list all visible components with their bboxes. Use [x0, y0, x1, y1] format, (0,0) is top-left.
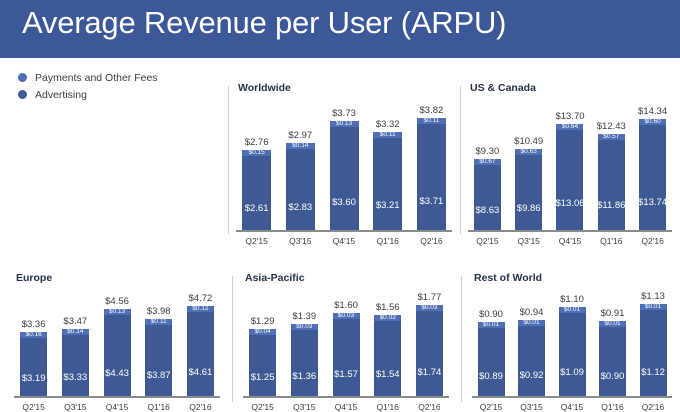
x-axis-ticks: Q2'15Q3'15Q4'15Q1'16Q2'16 [14, 402, 220, 412]
bar-segment-advertising-label: $13.06 [555, 198, 584, 209]
bar-segment-advertising[interactable]: $2.83 [286, 149, 315, 231]
bar-slot[interactable]: $0.04$1.29$1.25 [243, 271, 282, 397]
bar-group: $0.15$2.76$2.61$0.14$2.97$2.83$0.13$3.73… [236, 81, 452, 231]
bar-slot[interactable]: $0.13$3.73$3.60 [323, 81, 364, 231]
bar-total-label: $3.98 [147, 306, 171, 317]
bar-segment-advertising-label: $3.87 [147, 370, 171, 381]
chart-panel-row: Rest of World$0.01$0.90$0.89$0.01$0.94$0… [472, 272, 672, 410]
bar-total-label: $1.10 [560, 294, 584, 305]
bar-segment-advertising-label: $3.71 [420, 196, 444, 207]
bar-segment-advertising[interactable]: $3.71 [417, 124, 446, 231]
bar-total-label: $1.60 [334, 300, 358, 311]
panel-divider [461, 276, 462, 402]
circle-icon [18, 73, 27, 82]
stacked-bar[interactable]: $0.01$0.91$0.90 [599, 321, 626, 397]
page-title: Average Revenue per User (ARPU) [22, 5, 506, 41]
bar-total-label: $2.76 [245, 137, 269, 148]
bar-slot[interactable]: $0.01$1.10$1.09 [553, 271, 591, 397]
bar-segment-advertising[interactable]: $1.12 [640, 310, 667, 397]
bar-segment-advertising[interactable]: $9.86 [515, 155, 542, 231]
bar-slot[interactable]: $0.11$3.32$3.21 [367, 81, 408, 231]
bar-total-label: $12.43 [597, 121, 626, 132]
bar-total-label: $13.70 [555, 111, 584, 122]
x-axis-tick-label: Q4'15 [553, 402, 591, 412]
stacked-bar[interactable]: $0.11$3.82$3.71 [417, 118, 446, 231]
stacked-bar[interactable]: $0.13$4.56$4.43 [104, 309, 131, 397]
stacked-bar[interactable]: $0.60$14.34$13.74 [639, 119, 666, 231]
stacked-bar[interactable]: $0.01$0.94$0.92 [518, 320, 545, 397]
bar-segment-advertising[interactable]: $0.90 [599, 327, 626, 397]
bar-segment-advertising[interactable]: $3.33 [62, 335, 89, 397]
bar-group: $0.01$0.90$0.89$0.01$0.94$0.92$0.01$1.10… [472, 271, 672, 397]
plot-area: $0.15$2.76$2.61$0.14$2.97$2.83$0.13$3.73… [236, 94, 452, 244]
bar-segment-advertising-label: $13.74 [638, 197, 667, 208]
stacked-bar[interactable]: $0.01$1.10$1.09 [559, 307, 586, 397]
stacked-bar[interactable]: $0.03$1.60$1.57 [333, 313, 360, 397]
bar-segment-advertising[interactable]: $11.86 [598, 140, 625, 231]
bar-segment-advertising-label: $3.19 [22, 373, 46, 384]
bar-segment-advertising[interactable]: $1.54 [374, 321, 401, 397]
bar-slot[interactable]: $0.11$3.98$3.87 [139, 271, 178, 397]
stacked-bar[interactable]: $0.14$2.97$2.83 [286, 143, 315, 231]
bar-group: $0.67$9.30$8.63$0.63$10.49$9.86$0.64$13.… [468, 81, 672, 231]
panel-divider [232, 276, 233, 402]
bar-slot[interactable]: $0.15$2.76$2.61 [236, 81, 277, 231]
bar-segment-advertising-label: $2.83 [288, 202, 312, 213]
bar-slot[interactable]: $0.02$1.56$1.54 [368, 271, 407, 397]
x-axis-ticks: Q2'15Q3'15Q4'15Q1'16Q2'16 [236, 236, 452, 246]
bar-slot[interactable]: $0.13$4.56$4.43 [97, 271, 136, 397]
bar-slot[interactable]: $0.03$1.39$1.36 [285, 271, 324, 397]
bar-segment-advertising-label: $1.74 [418, 367, 442, 378]
x-axis-tick-label: Q1'16 [367, 236, 408, 246]
bar-segment-advertising-label: $4.43 [105, 368, 129, 379]
bar-total-label: $0.91 [601, 308, 625, 319]
bar-group: $0.16$3.36$3.19$0.14$3.47$3.33$0.13$4.56… [14, 271, 220, 397]
x-axis-ticks: Q2'15Q3'15Q4'15Q1'16Q2'16 [243, 402, 449, 412]
bar-segment-advertising-label: $1.12 [641, 367, 665, 378]
x-axis-line [243, 396, 449, 398]
bar-total-label: $3.73 [332, 108, 356, 119]
chart-panel-asia: Asia-Pacific$0.04$1.29$1.25$0.03$1.39$1.… [243, 272, 449, 410]
bar-segment-advertising[interactable]: $4.61 [187, 312, 214, 397]
bar-segment-advertising-label: $9.86 [517, 203, 541, 214]
x-axis-tick-label: Q2'15 [243, 402, 282, 412]
stacked-bar[interactable]: $0.02$1.56$1.54 [374, 315, 401, 397]
bar-segment-advertising-label: $0.90 [601, 371, 625, 382]
bar-slot[interactable]: $0.63$10.49$9.86 [509, 81, 548, 231]
x-axis-tick-label: Q2'16 [410, 402, 449, 412]
bar-segment-advertising-label: $0.89 [479, 371, 503, 382]
bar-segment-advertising[interactable]: $1.09 [559, 313, 586, 397]
plot-area: $0.16$3.36$3.19$0.14$3.47$3.33$0.13$4.56… [14, 284, 220, 410]
x-axis-tick-label: Q3'15 [56, 402, 95, 412]
stacked-bar[interactable]: $0.01$0.90$0.89 [478, 322, 505, 397]
plot-area: $0.04$1.29$1.25$0.03$1.39$1.36$0.03$1.60… [243, 284, 449, 410]
x-axis-tick-label: Q2'15 [468, 236, 507, 246]
stacked-bar[interactable]: $0.64$13.70$13.06 [556, 124, 583, 231]
bar-segment-advertising[interactable]: $1.57 [333, 319, 360, 397]
x-axis-tick-label: Q4'15 [551, 236, 590, 246]
bar-segment-advertising[interactable]: $13.74 [639, 125, 666, 231]
bar-segment-advertising-label: $1.25 [251, 372, 275, 383]
bar-segment-advertising[interactable]: $8.63 [474, 165, 501, 231]
bar-segment-advertising[interactable]: $0.89 [478, 328, 505, 397]
x-axis-tick-label: Q1'16 [139, 402, 178, 412]
bar-slot[interactable]: $0.03$1.60$1.57 [326, 271, 365, 397]
legend-item[interactable]: Payments and Other Fees [18, 70, 158, 85]
x-axis-tick-label: Q2'16 [181, 402, 220, 412]
bar-slot[interactable]: $0.01$0.91$0.90 [594, 271, 632, 397]
bar-segment-advertising[interactable]: $2.61 [242, 156, 271, 231]
x-axis-tick-label: Q2'16 [634, 402, 672, 412]
x-axis-line [236, 230, 452, 232]
stacked-bar[interactable]: $0.12$4.72$4.61 [187, 306, 214, 397]
legend-item[interactable]: Advertising [18, 87, 158, 102]
bar-segment-advertising[interactable]: $3.87 [145, 325, 172, 397]
x-axis-tick-label: Q1'16 [594, 402, 632, 412]
plot-area: $0.01$0.90$0.89$0.01$0.94$0.92$0.01$1.10… [472, 284, 672, 410]
bar-total-label: $4.56 [105, 296, 129, 307]
stacked-bar[interactable]: $0.11$3.32$3.21 [373, 132, 402, 231]
x-axis-line [472, 396, 672, 398]
x-axis-tick-label: Q3'15 [285, 402, 324, 412]
bar-total-label: $0.94 [520, 307, 544, 318]
bar-segment-advertising[interactable]: $1.25 [249, 335, 276, 397]
bar-total-label: $1.13 [641, 291, 665, 302]
bar-total-label: $1.29 [251, 316, 275, 327]
x-axis-tick-label: Q2'15 [236, 236, 277, 246]
bar-total-label: $10.49 [514, 136, 543, 147]
bar-slot[interactable]: $0.57$12.43$11.86 [592, 81, 631, 231]
bar-total-label: $1.56 [376, 302, 400, 313]
chart-legend: Payments and Other FeesAdvertising [18, 70, 158, 104]
bar-total-label: $0.90 [479, 309, 503, 320]
x-axis-tick-label: Q4'15 [97, 402, 136, 412]
panel-divider [460, 86, 461, 234]
bar-segment-advertising-label: $1.36 [292, 371, 316, 382]
bar-slot[interactable]: $0.12$4.72$4.61 [181, 271, 220, 397]
bar-slot[interactable]: $0.01$0.90$0.89 [472, 271, 510, 397]
legend-item-label: Advertising [35, 89, 87, 101]
stacked-bar[interactable]: $0.67$9.30$8.63 [474, 159, 501, 231]
chart-panel-us-canada: US & Canada$0.67$9.30$8.63$0.63$10.49$9.… [468, 82, 672, 244]
x-axis-tick-label: Q2'16 [633, 236, 672, 246]
bar-total-label: $9.30 [476, 146, 500, 157]
bar-total-label: $14.34 [638, 106, 667, 117]
x-axis-tick-label: Q1'16 [368, 402, 407, 412]
stacked-bar[interactable]: $0.11$3.98$3.87 [145, 319, 172, 397]
x-axis-line [14, 396, 220, 398]
plot-area: $0.67$9.30$8.63$0.63$10.49$9.86$0.64$13.… [468, 94, 672, 244]
bar-segment-advertising-label: $0.92 [520, 370, 544, 381]
bar-slot[interactable]: $0.60$14.34$13.74 [633, 81, 672, 231]
panel-divider [228, 86, 229, 234]
bar-segment-advertising-label: $4.61 [189, 367, 213, 378]
stacked-bar[interactable]: $0.03$1.39$1.36 [291, 324, 318, 397]
bar-total-label: $3.36 [22, 319, 46, 330]
x-axis-ticks: Q2'15Q3'15Q4'15Q1'16Q2'16 [468, 236, 672, 246]
stacked-bar[interactable]: $0.57$12.43$11.86 [598, 134, 625, 231]
bar-segment-advertising[interactable]: $4.43 [104, 315, 131, 397]
legend-item-label: Payments and Other Fees [35, 72, 158, 84]
stacked-bar[interactable]: $0.01$1.13$1.12 [640, 304, 667, 397]
bar-slot[interactable]: $0.14$2.97$2.83 [280, 81, 321, 231]
bar-segment-advertising-label: $3.60 [332, 197, 356, 208]
bar-segment-advertising[interactable]: $1.36 [291, 330, 318, 397]
x-axis-tick-label: Q3'15 [513, 402, 551, 412]
stacked-bar[interactable]: $0.63$10.49$9.86 [515, 149, 542, 231]
bar-segment-advertising[interactable]: $1.74 [416, 311, 443, 397]
bar-segment-advertising-label: $1.54 [376, 369, 400, 380]
stacked-bar[interactable]: $0.13$3.73$3.60 [330, 121, 359, 231]
chart-panel-europe: Europe$0.16$3.36$3.19$0.14$3.47$3.33$0.1… [14, 272, 220, 410]
x-axis-tick-label: Q3'15 [280, 236, 321, 246]
bar-segment-advertising[interactable]: $3.60 [330, 127, 359, 231]
bar-total-label: $3.47 [63, 316, 87, 327]
x-axis-tick-label: Q1'16 [592, 236, 631, 246]
circle-icon [18, 90, 27, 99]
x-axis-line [468, 230, 672, 232]
bar-segment-advertising[interactable]: $0.92 [518, 326, 545, 397]
bar-segment-advertising-label: $3.21 [376, 200, 400, 211]
x-axis-tick-label: Q2'15 [14, 402, 53, 412]
bar-segment-advertising-label: $11.86 [597, 200, 625, 211]
bar-segment-advertising-label: $3.33 [63, 372, 87, 383]
bar-slot[interactable]: $0.67$9.30$8.63 [468, 81, 507, 231]
bar-total-label: $2.97 [288, 130, 312, 141]
x-axis-ticks: Q2'15Q3'15Q4'15Q1'16Q2'16 [472, 402, 672, 412]
bar-segment-advertising[interactable]: $3.21 [373, 138, 402, 231]
bar-slot[interactable]: $0.01$1.13$1.12 [634, 271, 672, 397]
bar-segment-advertising[interactable]: $13.06 [556, 130, 583, 231]
bar-total-label: $1.39 [292, 311, 316, 322]
x-axis-tick-label: Q2'16 [411, 236, 452, 246]
bar-total-label: $3.32 [376, 119, 400, 130]
bar-segment-advertising-label: $1.09 [560, 367, 584, 378]
bar-segment-advertising-label: $1.57 [334, 369, 358, 380]
bar-slot[interactable]: $0.64$13.70$13.06 [551, 81, 590, 231]
bar-slot[interactable]: $0.01$0.94$0.92 [513, 271, 551, 397]
bar-slot[interactable]: $0.14$3.47$3.33 [56, 271, 95, 397]
x-axis-tick-label: Q4'15 [326, 402, 365, 412]
bar-slot[interactable]: $0.03$1.77$1.74 [410, 271, 449, 397]
bar-total-label: $1.77 [418, 292, 442, 303]
bar-segment-advertising[interactable]: $3.19 [20, 338, 47, 397]
page-header: Average Revenue per User (ARPU) [0, 0, 680, 58]
stacked-bar[interactable]: $0.03$1.77$1.74 [416, 305, 443, 397]
x-axis-tick-label: Q3'15 [509, 236, 548, 246]
bar-segment-advertising-label: $2.61 [245, 203, 269, 214]
stacked-bar[interactable]: $0.15$2.76$2.61 [242, 150, 271, 231]
x-axis-tick-label: Q4'15 [323, 236, 364, 246]
stacked-bar[interactable]: $0.04$1.29$1.25 [249, 329, 276, 397]
bar-slot[interactable]: $0.11$3.82$3.71 [411, 81, 452, 231]
bar-slot[interactable]: $0.16$3.36$3.19 [14, 271, 53, 397]
bar-total-label: $3.82 [420, 105, 444, 116]
stacked-bar[interactable]: $0.14$3.47$3.33 [62, 329, 89, 397]
x-axis-tick-label: Q2'15 [472, 402, 510, 412]
bar-total-label: $4.72 [189, 293, 213, 304]
bar-segment-advertising-label: $8.63 [476, 205, 500, 216]
bar-group: $0.04$1.29$1.25$0.03$1.39$1.36$0.03$1.60… [243, 271, 449, 397]
stacked-bar[interactable]: $0.16$3.36$3.19 [20, 332, 47, 397]
chart-panel-worldwide: Worldwide$0.15$2.76$2.61$0.14$2.97$2.83$… [236, 82, 452, 244]
